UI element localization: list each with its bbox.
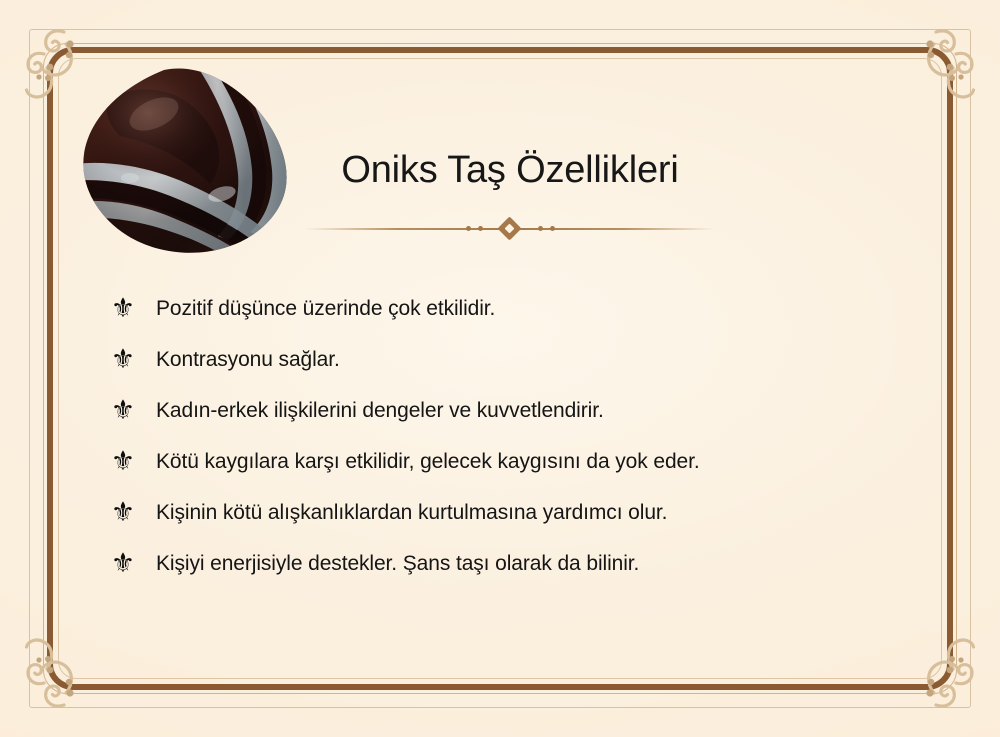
ornamental-divider [305, 218, 715, 240]
list-item-label: Kontrasyonu sağlar. [156, 348, 340, 372]
list-item-label: Pozitif düşünce üzerinde çok etkilidir. [156, 297, 495, 321]
fleur-de-lis-icon: ⚜ [106, 346, 140, 373]
list-item: ⚜ Kişiyi enerjisiyle destekler. Şans taş… [106, 538, 910, 589]
heading-block: Oniks Taş Özellikleri [305, 150, 715, 240]
onyx-properties-card: Oniks Taş Özellikleri ⚜ Pozitif düşünce … [0, 0, 1000, 737]
list-item-label: Kişinin kötü alışkanlıklardan kurtulması… [156, 501, 667, 525]
diamond-ornament-icon [497, 216, 521, 240]
page-title: Oniks Taş Özellikleri [305, 150, 715, 192]
list-item-label: Kadın-erkek ilişkilerini dengeler ve kuv… [156, 399, 604, 423]
corner-scroll-flourish-icon-bottom-left [14, 603, 134, 723]
list-item-label: Kötü kaygılara karşı etkilidir, gelecek … [156, 450, 700, 474]
fleur-de-lis-icon: ⚜ [106, 448, 140, 475]
list-item-label: Kişiyi enerjisiyle destekler. Şans taşı … [156, 552, 639, 576]
fleur-de-lis-icon: ⚜ [106, 499, 140, 526]
fleur-de-lis-icon: ⚜ [106, 295, 140, 322]
list-item: ⚜ Kadın-erkek ilişkilerini dengeler ve k… [106, 385, 910, 436]
divider-dot-left-outer [478, 226, 483, 231]
corner-scroll-flourish-icon-top-right [866, 14, 986, 134]
divider-dot-left-inner [466, 226, 471, 231]
corner-scroll-flourish-icon-bottom-right [866, 603, 986, 723]
divider-dot-right-inner [538, 226, 543, 231]
fleur-de-lis-icon: ⚜ [106, 397, 140, 424]
list-item: ⚜ Kişinin kötü alışkanlıklardan kurtulma… [106, 487, 910, 538]
divider-dot-right-outer [550, 226, 555, 231]
list-item: ⚜ Kötü kaygılara karşı etkilidir, gelece… [106, 436, 910, 487]
list-item: ⚜ Kontrasyonu sağlar. [106, 334, 910, 385]
list-item: ⚜ Pozitif düşünce üzerinde çok etkilidir… [106, 283, 910, 334]
fleur-de-lis-icon: ⚜ [106, 550, 140, 577]
properties-list: ⚜ Pozitif düşünce üzerinde çok etkilidir… [106, 283, 910, 589]
onyx-stone-image [72, 62, 304, 258]
